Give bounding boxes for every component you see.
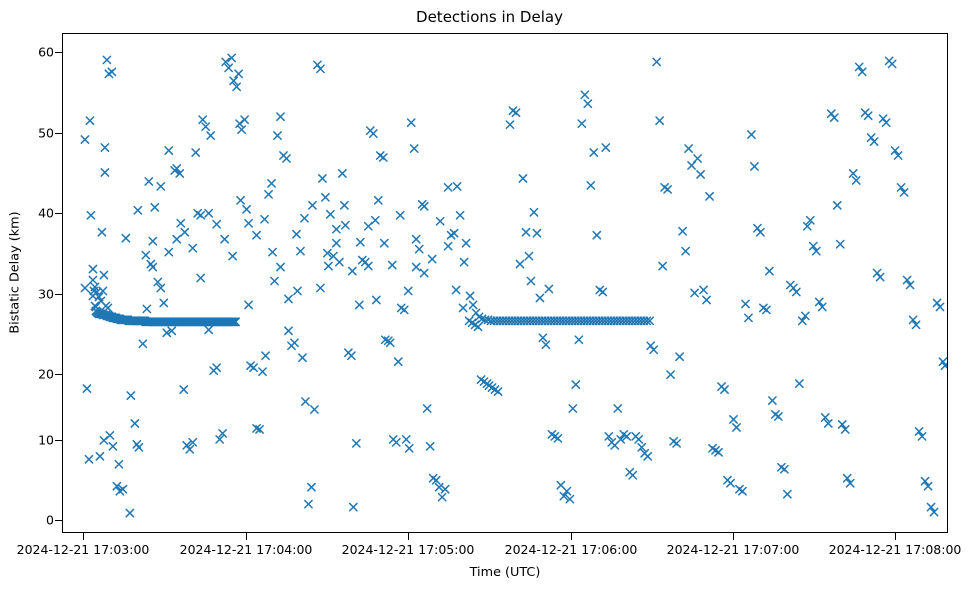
scatter-point bbox=[253, 232, 260, 239]
scatter-point bbox=[213, 364, 220, 371]
scatter-point bbox=[739, 488, 746, 495]
y-tick-label: 40 bbox=[38, 206, 54, 221]
scatter-point bbox=[456, 212, 463, 219]
scatter-point bbox=[629, 472, 636, 479]
scatter-point bbox=[871, 138, 878, 145]
scatter-point bbox=[241, 116, 248, 123]
scatter-point bbox=[365, 223, 372, 230]
scatter-point bbox=[317, 284, 324, 291]
scatter-point bbox=[413, 263, 420, 270]
scatter-point bbox=[519, 175, 526, 182]
scatter-point bbox=[294, 287, 301, 294]
scatter-point bbox=[333, 240, 340, 247]
scatter-point bbox=[108, 68, 115, 75]
scatter-point bbox=[160, 299, 167, 306]
scatter-point bbox=[688, 162, 695, 169]
scatter-point bbox=[748, 131, 755, 138]
scatter-point bbox=[837, 241, 844, 248]
scatter-point bbox=[243, 206, 250, 213]
scatter-point bbox=[165, 248, 172, 255]
scatter-series bbox=[81, 54, 947, 516]
scatter-point bbox=[265, 191, 272, 198]
scatter-point bbox=[439, 494, 446, 501]
scatter-point bbox=[751, 163, 758, 170]
scatter-point bbox=[197, 274, 204, 281]
scatter-point bbox=[237, 197, 244, 204]
scatter-point bbox=[115, 461, 122, 468]
scatter-point bbox=[177, 220, 184, 227]
y-tick-label: 60 bbox=[38, 45, 54, 60]
scatter-point bbox=[356, 301, 363, 308]
scatter-point bbox=[413, 236, 420, 243]
scatter-point bbox=[103, 56, 110, 63]
scatter-point bbox=[325, 262, 332, 269]
x-tick-label: 2024-12-21 17:07:00 bbox=[667, 542, 800, 557]
scatter-point bbox=[450, 230, 457, 237]
scatter-point bbox=[745, 314, 752, 321]
scatter-point bbox=[207, 132, 214, 139]
scatter-point bbox=[769, 397, 776, 404]
scatter-point bbox=[229, 252, 236, 259]
scatter-point bbox=[403, 436, 410, 443]
x-tick-mark bbox=[246, 533, 247, 540]
scatter-point bbox=[350, 503, 357, 510]
scatter-point bbox=[452, 286, 459, 293]
scatter-point bbox=[250, 364, 257, 371]
scatter-point bbox=[784, 491, 791, 498]
scatter-point bbox=[691, 289, 698, 296]
scatter-point bbox=[370, 130, 377, 137]
scatter-point bbox=[365, 262, 372, 269]
scatter-point bbox=[516, 260, 523, 267]
scatter-point bbox=[319, 175, 326, 182]
page-title: Detections in Delay bbox=[0, 8, 979, 26]
scatter-point bbox=[667, 371, 674, 378]
scatter-point bbox=[302, 398, 309, 405]
scatter-point bbox=[421, 269, 428, 276]
scatter-point bbox=[599, 288, 606, 295]
scatter-point bbox=[682, 247, 689, 254]
scatter-point bbox=[149, 238, 156, 245]
scatter-point bbox=[433, 477, 440, 484]
scatter-point bbox=[293, 231, 300, 238]
y-tick-label: 50 bbox=[38, 126, 54, 141]
scatter-point bbox=[205, 210, 212, 217]
scatter-point bbox=[135, 444, 142, 451]
scatter-point bbox=[614, 405, 621, 412]
scatter-point bbox=[542, 341, 549, 348]
scatter-point bbox=[700, 286, 707, 293]
scatter-point bbox=[299, 354, 306, 361]
scatter-point bbox=[109, 443, 116, 450]
scatter-point bbox=[308, 484, 315, 491]
scatter-point bbox=[197, 212, 204, 219]
scatter-point bbox=[742, 300, 749, 307]
y-tick-mark bbox=[55, 52, 62, 53]
scatter-point bbox=[186, 446, 193, 453]
scatter-point bbox=[697, 171, 704, 178]
scatter-point bbox=[327, 211, 334, 218]
scatter-point bbox=[395, 358, 402, 365]
scatter-point bbox=[381, 240, 388, 247]
scatter-point bbox=[165, 147, 172, 154]
scatter-point bbox=[277, 263, 284, 270]
scatter-point bbox=[245, 220, 252, 227]
scatter-point bbox=[151, 204, 158, 211]
x-tick-mark bbox=[571, 533, 572, 540]
scatter-point bbox=[590, 149, 597, 156]
scatter-point bbox=[685, 145, 692, 152]
scatter-point bbox=[245, 301, 252, 308]
scatter-point bbox=[575, 336, 582, 343]
scatter-point bbox=[86, 117, 93, 124]
scatter-point bbox=[411, 145, 418, 152]
scatter-point bbox=[730, 416, 737, 423]
scatter-point bbox=[763, 306, 770, 313]
scatter-point bbox=[659, 262, 666, 269]
scatter-point bbox=[781, 466, 788, 473]
x-tick-mark bbox=[83, 533, 84, 540]
y-tick-mark bbox=[55, 213, 62, 214]
scatter-point bbox=[522, 229, 529, 236]
scatter-canvas bbox=[63, 34, 947, 532]
y-tick-label: 10 bbox=[38, 433, 54, 448]
scatter-point bbox=[850, 170, 857, 177]
scatter-point bbox=[322, 194, 329, 201]
scatter-point bbox=[673, 440, 680, 447]
x-tick-label: 2024-12-21 17:08:00 bbox=[829, 542, 962, 557]
scatter-point bbox=[766, 267, 773, 274]
scatter-point bbox=[89, 265, 96, 272]
scatter-point bbox=[593, 232, 600, 239]
scatter-point bbox=[143, 305, 150, 312]
scatter-point bbox=[831, 114, 838, 121]
scatter-point bbox=[793, 288, 800, 295]
scatter-point bbox=[882, 119, 889, 126]
scatter-point bbox=[305, 500, 312, 507]
scatter-point bbox=[373, 296, 380, 303]
scatter-point bbox=[301, 215, 308, 222]
x-tick-mark bbox=[895, 533, 896, 540]
scatter-point bbox=[205, 326, 212, 333]
scatter-point bbox=[106, 432, 113, 439]
scatter-point bbox=[339, 170, 346, 177]
scatter-point bbox=[721, 386, 728, 393]
scatter-point bbox=[469, 301, 476, 308]
scatter-point bbox=[202, 123, 209, 130]
scatter-point bbox=[406, 445, 413, 452]
scatter-point bbox=[126, 509, 133, 516]
scatter-point bbox=[375, 197, 382, 204]
scatter-point bbox=[512, 109, 519, 116]
scatter-point bbox=[408, 119, 415, 126]
scatter-point bbox=[348, 352, 355, 359]
y-tick-label: 0 bbox=[46, 513, 54, 528]
scatter-point bbox=[221, 236, 228, 243]
scatter-point bbox=[877, 273, 884, 280]
y-tick-mark bbox=[55, 440, 62, 441]
x-tick-label: 2024-12-21 17:04:00 bbox=[180, 542, 313, 557]
scatter-point bbox=[578, 120, 585, 127]
scatter-point bbox=[530, 209, 537, 216]
scatter-point bbox=[539, 334, 546, 341]
scatter-point bbox=[436, 484, 443, 491]
scatter-point bbox=[429, 255, 436, 262]
y-tick-mark bbox=[55, 294, 62, 295]
scatter-point bbox=[101, 169, 108, 176]
scatter-point bbox=[192, 149, 199, 156]
scatter-point bbox=[679, 228, 686, 235]
scatter-point bbox=[297, 247, 304, 254]
scatter-point bbox=[664, 186, 671, 193]
scatter-point bbox=[199, 116, 206, 123]
scatter-point bbox=[525, 252, 532, 259]
scatter-point bbox=[127, 392, 134, 399]
x-tick-label: 2024-12-21 17:03:00 bbox=[17, 542, 150, 557]
scatter-point bbox=[342, 222, 349, 229]
scatter-point bbox=[444, 184, 451, 191]
x-tick-mark bbox=[408, 533, 409, 540]
scatter-point bbox=[459, 304, 466, 311]
scatter-point bbox=[441, 486, 448, 493]
scatter-point bbox=[733, 424, 740, 431]
scatter-point bbox=[87, 212, 94, 219]
scatter-point bbox=[401, 306, 408, 313]
scatter-point bbox=[269, 248, 276, 255]
scatter-point bbox=[536, 294, 543, 301]
plot-axes bbox=[62, 33, 948, 533]
scatter-point bbox=[936, 303, 943, 310]
scatter-point bbox=[98, 229, 105, 236]
scatter-point bbox=[757, 229, 764, 236]
scatter-point bbox=[581, 91, 588, 98]
scatter-point bbox=[572, 381, 579, 388]
scatter-point bbox=[83, 385, 90, 392]
scatter-point bbox=[238, 126, 245, 133]
scatter-point bbox=[703, 296, 710, 303]
y-tick-mark bbox=[55, 520, 62, 521]
scatter-point bbox=[397, 212, 404, 219]
scatter-point bbox=[775, 413, 782, 420]
y-tick-mark bbox=[55, 133, 62, 134]
scatter-point bbox=[139, 340, 146, 347]
scatter-point bbox=[100, 271, 107, 278]
scatter-point bbox=[349, 267, 356, 274]
scatter-point bbox=[145, 178, 152, 185]
scatter-point bbox=[653, 58, 660, 65]
x-tick-label: 2024-12-21 17:05:00 bbox=[342, 542, 475, 557]
scatter-point bbox=[341, 202, 348, 209]
scatter-point bbox=[372, 217, 379, 224]
scatter-point bbox=[545, 285, 552, 292]
scatter-point bbox=[173, 236, 180, 243]
scatter-point bbox=[311, 406, 318, 413]
scatter-point bbox=[853, 177, 860, 184]
scatter-point bbox=[274, 132, 281, 139]
scatter-point bbox=[444, 243, 451, 250]
scatter-point bbox=[268, 180, 275, 187]
scatter-point bbox=[676, 353, 683, 360]
scatter-point bbox=[101, 144, 108, 151]
scatter-point bbox=[181, 229, 188, 236]
scatter-point bbox=[437, 218, 444, 225]
y-axis-label: Bistatic Delay (km) bbox=[8, 23, 23, 523]
scatter-point bbox=[727, 480, 734, 487]
scatter-point bbox=[796, 380, 803, 387]
scatter-point bbox=[96, 453, 103, 460]
scatter-point bbox=[81, 136, 88, 143]
scatter-point bbox=[421, 203, 428, 210]
scatter-point bbox=[180, 386, 187, 393]
scatter-point bbox=[261, 216, 268, 223]
scatter-point bbox=[317, 65, 324, 72]
y-tick-label: 30 bbox=[38, 287, 54, 302]
scatter-point bbox=[635, 436, 642, 443]
scatter-point bbox=[462, 240, 469, 247]
scatter-point bbox=[694, 155, 701, 162]
scatter-point bbox=[656, 117, 663, 124]
scatter-point bbox=[309, 202, 316, 209]
scatter-point bbox=[584, 100, 591, 107]
scatter-point bbox=[277, 113, 284, 120]
scatter-point bbox=[466, 292, 473, 299]
scatter-point bbox=[357, 239, 364, 246]
scatter-point bbox=[189, 245, 196, 252]
scatter-point bbox=[602, 144, 609, 151]
scatter-point bbox=[353, 440, 360, 447]
scatter-point bbox=[122, 235, 129, 242]
scatter-point bbox=[285, 295, 292, 302]
scatter-point bbox=[834, 202, 841, 209]
scatter-point bbox=[271, 277, 278, 284]
scatter-point bbox=[131, 420, 138, 427]
scatter-point bbox=[285, 327, 292, 334]
y-tick-mark bbox=[55, 374, 62, 375]
scatter-point bbox=[157, 183, 164, 190]
scatter-point bbox=[460, 258, 467, 265]
scatter-point bbox=[644, 453, 651, 460]
scatter-point bbox=[865, 112, 872, 119]
scatter-point bbox=[389, 261, 396, 268]
scatter-point bbox=[587, 182, 594, 189]
scatter-point bbox=[506, 121, 513, 128]
scatter-point bbox=[416, 246, 423, 253]
scatter-point bbox=[527, 277, 534, 284]
scatter-point bbox=[333, 226, 340, 233]
scatter-point bbox=[380, 154, 387, 161]
scatter-point bbox=[259, 368, 266, 375]
scatter-point bbox=[81, 284, 88, 291]
matplotlib-figure: Detections in Delay 0102030405060 Time (… bbox=[0, 0, 979, 590]
x-axis-label: Time (UTC) bbox=[62, 565, 948, 580]
scatter-point bbox=[213, 221, 220, 228]
scatter-point bbox=[706, 193, 713, 200]
scatter-point bbox=[888, 60, 895, 67]
scatter-point bbox=[405, 287, 412, 294]
scatter-point bbox=[650, 346, 657, 353]
y-tick-label: 20 bbox=[38, 367, 54, 382]
scatter-point bbox=[262, 352, 269, 359]
scatter-point bbox=[104, 304, 111, 311]
scatter-point bbox=[424, 405, 431, 412]
scatter-point bbox=[283, 155, 290, 162]
scatter-point bbox=[336, 258, 343, 265]
scatter-point bbox=[85, 456, 92, 463]
scatter-point bbox=[427, 443, 434, 450]
scatter-point bbox=[142, 251, 149, 258]
scatter-point bbox=[235, 70, 242, 77]
scatter-point bbox=[291, 339, 298, 346]
scatter-point bbox=[89, 276, 96, 283]
scatter-point bbox=[453, 183, 460, 190]
x-tick-mark bbox=[733, 533, 734, 540]
scatter-point bbox=[393, 439, 400, 446]
x-tick-label: 2024-12-21 17:06:00 bbox=[505, 542, 638, 557]
scatter-point bbox=[134, 207, 141, 214]
scatter-point bbox=[569, 405, 576, 412]
scatter-point bbox=[149, 263, 156, 270]
scatter-point bbox=[533, 230, 540, 237]
